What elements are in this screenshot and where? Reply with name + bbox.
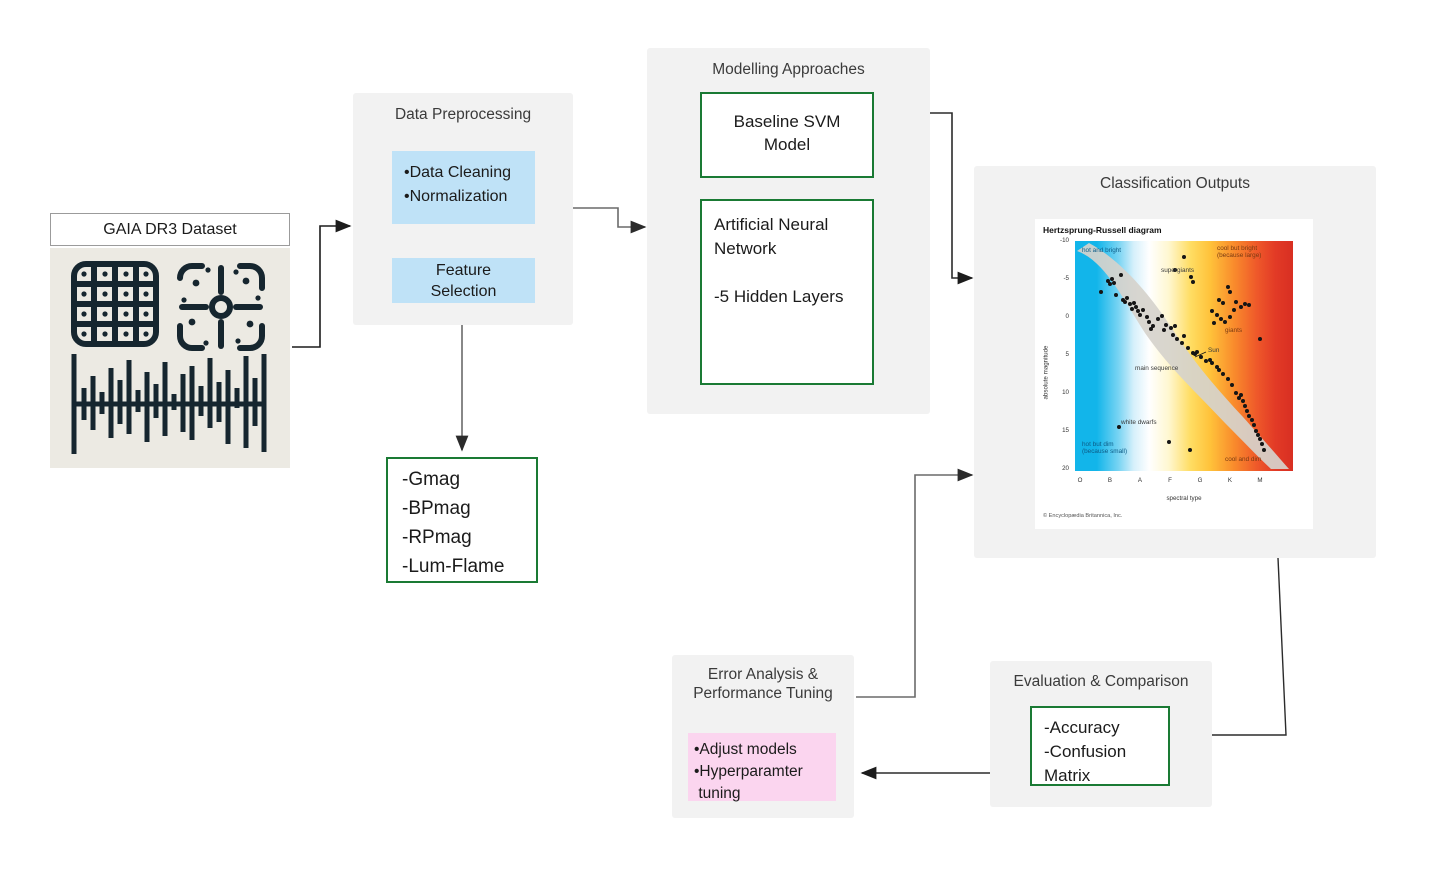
hertzsprung-russell-diagram[interactable]: Hertzsprung-Russell diagram absolute mag… xyxy=(1035,219,1313,529)
hr-annotation: cool but bright (because large) xyxy=(1217,245,1261,259)
hr-x-tick: O xyxy=(1073,477,1087,484)
connector-error-analysis-to-classification xyxy=(856,475,972,697)
flowchart-canvas: GAIA DR3 Dataset xyxy=(0,0,1456,876)
hr-y-tick: 10 xyxy=(1047,389,1069,396)
error-analysis-actions-box[interactable]: •Adjust models •Hyperparamter tuning xyxy=(688,733,836,801)
hr-x-axis-label: spectral type xyxy=(1075,495,1293,502)
dataset-thumbnail xyxy=(50,248,290,468)
hr-y-tick: 5 xyxy=(1047,351,1069,358)
hr-annotation: white dwarfs xyxy=(1121,419,1157,426)
hr-scatter-svg xyxy=(1075,241,1293,471)
hr-annotation: giants xyxy=(1225,327,1242,334)
hr-y-tick: 15 xyxy=(1047,427,1069,434)
baseline-svm-box[interactable]: Baseline SVM Model xyxy=(700,92,874,178)
hr-plot-area: hot and bright cool but bright (because … xyxy=(1075,241,1293,471)
hr-y-tick: -10 xyxy=(1047,237,1069,244)
hr-y-tick: 20 xyxy=(1047,465,1069,472)
hr-annotation: hot and bright xyxy=(1082,247,1121,254)
evaluation-title: Evaluation & Comparison xyxy=(990,672,1212,691)
hr-y-tick: -5 xyxy=(1047,275,1069,282)
hr-annotation: Sun xyxy=(1208,347,1219,354)
hr-annotation: hot but dim (because small) xyxy=(1082,441,1127,455)
ann-box[interactable]: Artificial Neural Network -5 Hidden Laye… xyxy=(700,199,874,385)
error-analysis-title: Error Analysis & Performance Tuning xyxy=(672,665,854,703)
hr-x-tick: G xyxy=(1193,477,1207,484)
hr-chart-title: Hertzsprung-Russell diagram xyxy=(1043,225,1162,235)
data-grid-icon xyxy=(74,264,156,344)
hr-x-tick: F xyxy=(1163,477,1177,484)
connector-preprocessing-to-modelling xyxy=(573,208,645,227)
waveform-icon xyxy=(72,354,266,454)
connector-dataset-to-preprocessing xyxy=(292,226,350,347)
dataset-label-box[interactable]: GAIA DR3 Dataset xyxy=(50,213,290,246)
hr-annotation: supergiants xyxy=(1161,267,1194,274)
features-text: -Gmag -BPmag -RPmag -Lum-Flame xyxy=(402,465,536,581)
modelling-title: Modelling Approaches xyxy=(647,60,930,79)
classification-title: Classification Outputs xyxy=(974,174,1376,193)
hr-annotation: main sequence xyxy=(1135,365,1178,372)
baseline-svm-text: Baseline SVM Model xyxy=(734,110,841,156)
preprocessing-steps-box[interactable]: •Data Cleaning •Normalization xyxy=(392,151,535,224)
hr-x-tick: M xyxy=(1253,477,1267,484)
dataset-label: GAIA DR3 Dataset xyxy=(103,217,236,242)
hr-y-tick: 0 xyxy=(1047,313,1069,320)
hr-x-tick: K xyxy=(1223,477,1237,484)
ann-text: Artificial Neural Network -5 Hidden Laye… xyxy=(714,213,872,309)
evaluation-metrics-box[interactable]: -Accuracy -Confusion Matrix xyxy=(1030,706,1170,786)
dataset-graphics xyxy=(50,248,290,468)
hr-x-tick: B xyxy=(1103,477,1117,484)
preprocessing-feature-selection-box[interactable]: Feature Selection xyxy=(392,258,535,303)
preprocessing-steps-text: •Data Cleaning •Normalization xyxy=(404,161,535,209)
hr-annotation: cool and dim xyxy=(1225,456,1261,463)
feature-selection-text: Feature Selection xyxy=(431,260,497,302)
evaluation-metrics-text: -Accuracy -Confusion Matrix xyxy=(1044,716,1168,788)
hr-credit: © Encyclopædia Britannica, Inc. xyxy=(1043,513,1122,519)
scatter-crosshair-icon xyxy=(180,266,262,348)
error-analysis-actions-text: •Adjust models •Hyperparamter tuning xyxy=(694,739,836,805)
hr-y-axis-label: absolute magnitude xyxy=(1043,338,1050,408)
hr-x-tick: A xyxy=(1133,477,1147,484)
features-box[interactable]: -Gmag -BPmag -RPmag -Lum-Flame xyxy=(386,457,538,583)
preprocessing-title: Data Preprocessing xyxy=(353,105,573,124)
